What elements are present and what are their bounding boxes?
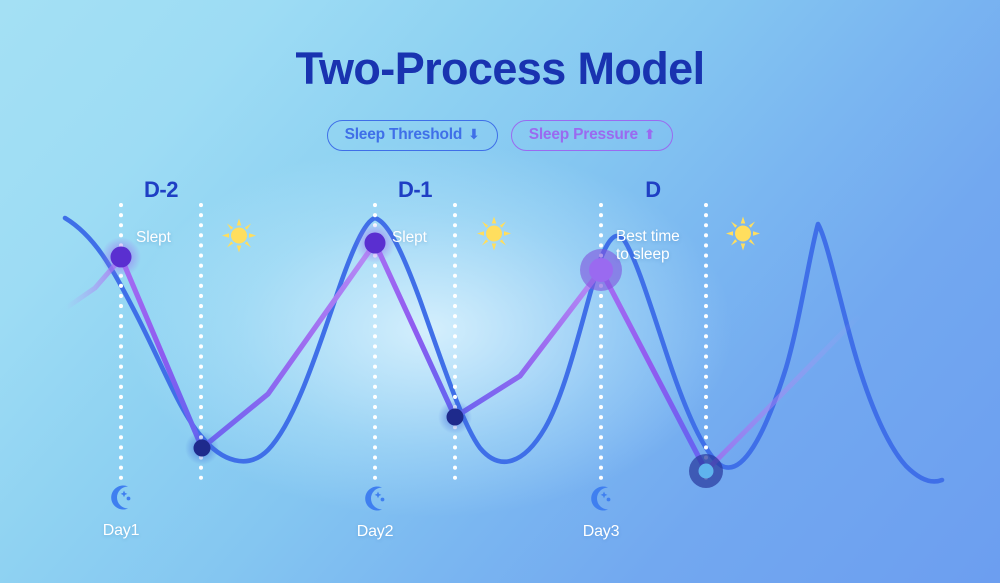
note-slept-day2: Slept bbox=[392, 229, 427, 247]
legend-item-sleep-pressure[interactable]: Sleep Pressure ⬆ bbox=[511, 120, 674, 151]
sleep-pressure-descent-3 bbox=[601, 270, 706, 471]
bottom-label-day3: Day3 bbox=[583, 523, 620, 541]
note-best-time-to-sleep: Best time to sleep bbox=[616, 228, 680, 265]
day-tag-d-2: D-2 bbox=[144, 177, 178, 203]
arrow-up-icon: ⬆ bbox=[644, 127, 656, 141]
data-point-marker[interactable] bbox=[355, 223, 395, 263]
infographic-canvas: Two-Process Model Sleep Threshold ⬇ Slee… bbox=[0, 0, 1000, 583]
note-slept-day1: Slept bbox=[136, 229, 171, 247]
moon-icon bbox=[586, 484, 616, 519]
sun-icon bbox=[221, 218, 257, 259]
bottom-label-day1: Day1 bbox=[103, 522, 140, 540]
data-point-marker[interactable] bbox=[185, 431, 219, 465]
sleep-pressure-descent-1 bbox=[121, 257, 202, 448]
data-point-marker[interactable] bbox=[101, 237, 141, 277]
page-title: Two-Process Model bbox=[0, 46, 1000, 91]
sleep-pressure-rise-2 bbox=[455, 270, 601, 417]
arrow-down-icon: ⬇ bbox=[468, 127, 480, 141]
moon-icon bbox=[106, 483, 136, 518]
day-tag-d: D bbox=[645, 177, 660, 203]
legend-item-sleep-threshold[interactable]: Sleep Threshold ⬇ bbox=[327, 120, 498, 151]
sun-icon bbox=[476, 216, 512, 257]
moon-icon bbox=[360, 484, 390, 519]
legend-label-sleep-threshold: Sleep Threshold bbox=[345, 126, 463, 144]
sleep-pressure-descent-2 bbox=[375, 243, 455, 417]
legend: Sleep Threshold ⬇ Sleep Pressure ⬆ bbox=[0, 120, 1000, 151]
data-point-marker-wake[interactable] bbox=[689, 454, 723, 488]
bottom-label-day2: Day2 bbox=[357, 523, 394, 541]
legend-label-sleep-pressure: Sleep Pressure bbox=[529, 126, 638, 144]
sun-icon bbox=[725, 216, 761, 257]
data-point-marker[interactable] bbox=[438, 400, 472, 434]
sleep-pressure-tail-right bbox=[706, 315, 860, 471]
day-tag-d-1: D-1 bbox=[398, 177, 432, 203]
